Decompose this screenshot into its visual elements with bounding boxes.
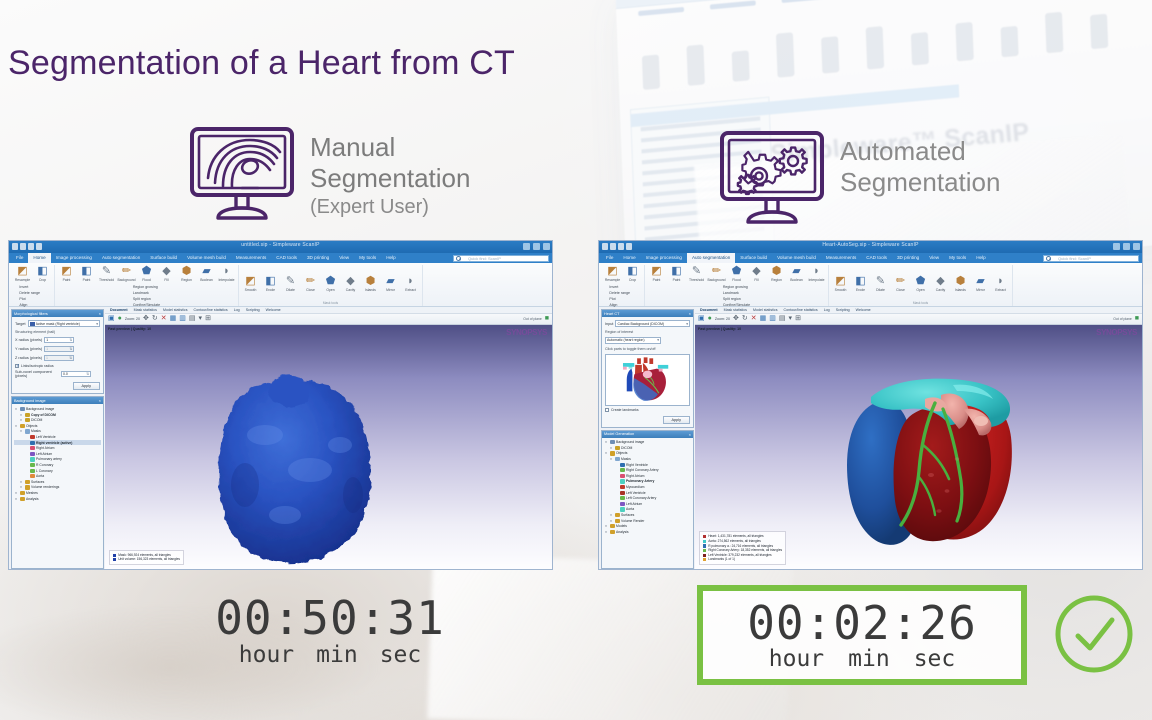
mask-color-icon [30, 463, 35, 467]
left-search-box[interactable]: Quick find: ScanIP [453, 255, 549, 262]
open-icon-glyph: ⬟ [326, 275, 336, 288]
mask-color-icon [30, 435, 35, 439]
ribbon-command[interactable]: Region growing [723, 285, 750, 290]
right-dock: Heart CT × Input Cardiac Background (DIC… [599, 307, 695, 569]
target-combo[interactable]: Active mask (Right ventricle) ▾ [28, 320, 100, 327]
fill-subrange-icon[interactable]: ◆Fill [748, 265, 765, 283]
tree-node-label: DICOM [31, 418, 42, 422]
mask-color-icon [620, 468, 625, 472]
structuring-element-label: Structuring element (ball) [15, 330, 100, 334]
right-title-bar: Heart-AutoSeg.sip - Simpleware ScanIP [599, 241, 1142, 253]
dilate-icon-glyph: ✎ [286, 275, 295, 288]
view-tab-log[interactable]: Log [821, 308, 833, 312]
right-workarea: Heart CT × Input Cardiac Background (DIC… [599, 307, 1142, 569]
tree-node-label: Masks [621, 457, 631, 461]
page-title: Segmentation of a Heart from CT [8, 44, 515, 83]
smooth-icon-glyph: ◩ [245, 275, 255, 288]
erode-icon[interactable]: ◧Erode [262, 275, 279, 293]
interpolate-icon[interactable]: ◗Interpolate [218, 265, 235, 283]
mask-color-icon [25, 485, 30, 489]
ribbon-tab-auto-segmentation[interactable]: Auto segmentation [97, 253, 145, 263]
right-object-tree-panel[interactable]: Model Generation × ▾Background image▾DIC… [601, 430, 694, 570]
ribbon-tab-3d-printing[interactable]: 3D printing [302, 253, 334, 263]
left-quick-access-toolbar[interactable] [12, 243, 42, 250]
resample-icon[interactable]: ◩Resample [14, 265, 31, 283]
erode-icon-glyph: ◧ [265, 275, 275, 288]
pan-icon[interactable]: ✥ [143, 314, 149, 324]
right-search-box[interactable]: Quick find: ScanIP [1043, 255, 1139, 262]
tree-node-label: Myocardium [626, 485, 644, 489]
ribbon-command[interactable]: Split region [723, 297, 750, 302]
close-icon[interactable]: × [689, 432, 691, 437]
left-tree-title-bar: Background image × [12, 397, 103, 404]
threshold-icon[interactable]: ✎Threshold [98, 265, 115, 283]
erode-icon-glyph: ◧ [855, 275, 865, 288]
checkbox-icon [605, 408, 609, 412]
fill-subrange-icon[interactable]: ◆Fill [158, 265, 175, 283]
automated-timer-units: hourminsec [747, 646, 977, 672]
right-ribbon-tabs[interactable]: FileHomeImage processingAuto segmentatio… [599, 253, 1142, 263]
fill-icon-glyph: ⬟ [732, 265, 742, 278]
grid-icon[interactable]: ▦ [760, 314, 767, 324]
ribbon-tab-help[interactable]: Help [381, 253, 400, 263]
ribbon-item-caption: Close [306, 289, 315, 293]
morphological-filters-panel[interactable]: Morphological filters × Target Active ma… [11, 309, 104, 394]
mask-color-icon [615, 519, 620, 523]
tree-node-label: Pulmonary Artery [626, 479, 654, 483]
view-tab-contour-line-statistics[interactable]: Contour/line statistics [781, 308, 821, 312]
left-tree-body[interactable]: ▾Background image▾Copy of DICOM▾DICOM▾Ob… [12, 404, 103, 503]
ribbon-item-caption: Close [896, 289, 905, 293]
legend-item: Unit volume: 156,323 elements, all trian… [113, 557, 180, 562]
ribbon-item-caption: Interpolate [808, 279, 824, 283]
tree-node-label: L Coronary [36, 469, 53, 473]
stepper-arrows-icon[interactable]: ⇅ [69, 347, 72, 351]
camera-icon[interactable]: ▤ [779, 314, 786, 324]
tree-node-label: DICOM [621, 446, 632, 450]
link-isotropic-label: Links/isotropic radius [21, 364, 54, 368]
automated-segmentation-screenshot[interactable]: Heart-AutoSeg.sip - Simpleware ScanIP Fi… [598, 240, 1143, 570]
link-isotropic-checkbox[interactable]: Links/isotropic radius [15, 364, 100, 368]
ribbon-tab-my-tools[interactable]: My tools [354, 253, 381, 263]
view-tab-mask-statistics[interactable]: Mask statistics [131, 308, 160, 312]
chevron-down-icon[interactable]: ▾ [609, 446, 613, 450]
subvoxel-label: Sub-voxel component (pixels) [15, 370, 59, 379]
cavity-fill-icon[interactable]: ◆Cavity [342, 275, 359, 293]
crop-icon[interactable]: ◧Crop [624, 265, 641, 283]
legend-label: Landmarks (1 of 1) [708, 557, 735, 562]
chevron-down-icon[interactable]: ▾ [19, 418, 23, 422]
ribbon-group-items[interactable]: ◩Paint◧Paint✎Threshold✏Background⬟Flood◆… [648, 265, 825, 283]
ribbon-tab-cad-tools[interactable]: CAD tools [861, 253, 892, 263]
ribbon-tab-volume-mesh-build[interactable]: Volume mesh build [182, 253, 231, 263]
right-legend: Heart: 1,431,781 elements, all triangles… [699, 531, 786, 565]
tree-node-label: Background image [26, 407, 54, 411]
tree-node-label: Surfaces [621, 513, 634, 517]
ribbon-item-caption: Cavity [346, 289, 355, 293]
mask-color-icon [620, 463, 625, 467]
left-ribbon[interactable]: ◩Resample◧CropInvertDelete rangePlotAlig… [9, 263, 552, 307]
mask-color-icon [20, 407, 25, 411]
mask-color-icon [620, 502, 625, 506]
tree-node-label: Analysis [26, 497, 39, 501]
apply-button[interactable]: Apply [73, 382, 101, 390]
automated-timer-highlight-box: 00:02:26 hourminsec [697, 585, 1027, 685]
chevron-down-icon[interactable]: ▾ [604, 524, 608, 528]
radius-row[interactable]: Y radius (pixels)1⇅ [15, 346, 100, 353]
ribbon-command[interactable]: Invert [19, 285, 45, 290]
left-title-bar: untitled.sip - Simpleware ScanIP [9, 241, 552, 253]
mirror-icon[interactable]: ▰Mirror [382, 275, 399, 293]
chevron-down-icon[interactable]: ▾ [19, 485, 23, 489]
mask-color-icon [30, 452, 35, 456]
mask-color-icon [30, 474, 35, 478]
ribbon-tab-home[interactable]: Home [28, 253, 50, 263]
tree-node-label: Right ventricle (active) [36, 441, 72, 445]
ribbon-command[interactable]: Region growing [133, 285, 160, 290]
create-landmarks-checkbox[interactable]: Create landmarks [605, 408, 690, 412]
tree-node-label: Right Coronary Artery [626, 468, 659, 472]
right-3d-canvas[interactable]: Fast preview | Quality: 10 SYNOPSYS [695, 325, 1142, 569]
interpolate-icon[interactable]: ◗Interpolate [808, 265, 825, 283]
radius-value: 1 [46, 338, 48, 342]
region-label: Region of interest [605, 330, 690, 334]
ribbon-tab-cad-tools[interactable]: CAD tools [271, 253, 302, 263]
extract-icon[interactable]: ◗Extract [402, 275, 419, 293]
threshold-icon[interactable]: ✎Threshold [688, 265, 705, 283]
chevron-down-icon[interactable]: ▾ [96, 322, 98, 326]
right-ribbon[interactable]: ◩Resample◧CropInvertDelete rangePlotAlig… [599, 263, 1142, 307]
legend-label: Unit volume: 156,323 elements, all trian… [118, 557, 180, 562]
mask-color-icon [30, 441, 35, 445]
right-view-toolbar[interactable]: ▣ ● Zoom: 20 ✥ ↻ ✕ ▦ ▥ ▤ ▾ ⊞ Out of plan… [695, 313, 1142, 325]
left-workarea: Morphological filters × Target Active ma… [9, 307, 552, 569]
radius-row[interactable]: Z radius (pixels)1⇅ [15, 355, 100, 362]
ribbon-tab-measurements[interactable]: Measurements [231, 253, 271, 263]
region-grow-icon[interactable]: ⬢Region [178, 265, 195, 283]
mask-color-icon [620, 485, 625, 489]
dilate-icon[interactable]: ✎Dilate [282, 275, 299, 293]
subvoxel-stepper[interactable]: 0.0⇅ [61, 371, 91, 378]
apply-button[interactable]: Apply [663, 416, 691, 424]
ribbon-tab-image-processing[interactable]: Image processing [51, 253, 97, 263]
layers-icon[interactable]: ▥ [179, 314, 186, 324]
tree-node-label: Left Coronary Artery [626, 496, 656, 500]
left-window-buttons[interactable] [523, 243, 550, 250]
chevron-down-icon[interactable]: ▾ [657, 338, 659, 342]
view-tab-welcome[interactable]: Welcome [853, 308, 874, 312]
view-tab-welcome[interactable]: Welcome [263, 308, 284, 312]
timer-unit-hour: hour [239, 642, 294, 668]
legend-color-swatch [113, 558, 116, 561]
radius-value: 1 [46, 347, 48, 351]
ribbon-tab-surface-build[interactable]: Surface build [735, 253, 772, 263]
left-object-tree-panel[interactable]: Background image × ▾Background image▾Cop… [11, 396, 104, 569]
ribbon-tab-view[interactable]: View [334, 253, 354, 263]
rotate-icon[interactable]: ↻ [742, 314, 748, 324]
ribbon-group-items[interactable]: ◩Paint◧Paint✎Threshold✏Background⬟Flood◆… [58, 265, 235, 283]
ribbon-group-items[interactable]: ◩Resample◧Crop [604, 265, 641, 283]
view-tab-contour-line-statistics[interactable]: Contour/line statistics [191, 308, 231, 312]
grid-icon[interactable]: ▦ [170, 314, 177, 324]
right-status-bar: Image extent: 512 x 512 x 293 voxelsSpac… [599, 569, 1142, 570]
erode-icon[interactable]: ◧Erode [852, 275, 869, 293]
mirror-icon[interactable]: ▰Mirror [972, 275, 989, 293]
view-tab-log[interactable]: Log [231, 308, 243, 312]
search-icon [456, 256, 466, 261]
islands-icon-glyph: ⬢ [956, 275, 966, 288]
open-icon[interactable]: ⬟Open [912, 275, 929, 293]
background-icon[interactable]: ✏Background [118, 265, 135, 283]
crop-icon[interactable]: ◧Crop [34, 265, 51, 283]
ribbon-command[interactable]: Plot [609, 297, 635, 302]
region-combo[interactable]: Automatic (heart region) ▾ [605, 337, 661, 344]
chevron-down-icon[interactable]: ▾ [199, 314, 203, 324]
chevron-down-icon[interactable]: ▾ [789, 314, 793, 324]
close-icon[interactable]: ✏Close [892, 275, 909, 293]
islands-icon[interactable]: ⬢Islands [952, 275, 969, 293]
left-3d-canvas[interactable]: Fast preview | Quality: 10 SYNOPSYS [105, 325, 552, 569]
left-status-bar: SplitX, TrialsRT (2of7)Image extent: 512… [9, 569, 552, 570]
close-icon[interactable]: × [99, 311, 101, 316]
ribbon-item-caption: Boolean [790, 279, 802, 283]
delete-icon[interactable]: ✕ [751, 314, 757, 324]
ribbon-tab-home[interactable]: Home [618, 253, 640, 263]
ribbon-tab-surface-build[interactable]: Surface build [145, 253, 182, 263]
radius-stepper[interactable]: 1⇅ [44, 355, 74, 362]
ribbon-item-caption: Open [916, 289, 924, 293]
view-tab-document[interactable]: Document [697, 308, 721, 312]
ribbon-item-caption: Threshold [99, 279, 114, 283]
mask-color-icon [620, 507, 625, 511]
ribbon-tab-file[interactable]: File [601, 253, 618, 263]
tree-node[interactable]: ▾Analysis [604, 529, 691, 535]
mask-color-icon [20, 491, 25, 495]
ribbon-tab-my-tools[interactable]: My tools [944, 253, 971, 263]
manual-label-sub: (Expert User) [310, 194, 470, 220]
mask-color-icon [620, 491, 625, 495]
ribbon-tab-measurements[interactable]: Measurements [821, 253, 861, 263]
background-icon-glyph: ✏ [712, 265, 721, 278]
radius-row[interactable]: X radius (pixels)1⇅ [15, 337, 100, 344]
close-icon[interactable]: ✏Close [302, 275, 319, 293]
chevron-down-icon[interactable]: ▾ [686, 322, 688, 326]
region-grow-icon[interactable]: ⬢Region [768, 265, 785, 283]
check-circle-icon [1052, 592, 1136, 681]
mask-color-icon [25, 418, 30, 422]
manual-timer: 00:50:31 hourminsec [180, 592, 480, 668]
right-window-buttons[interactable] [1113, 243, 1140, 250]
chevron-down-icon[interactable]: ▾ [19, 413, 23, 417]
ribbon-tab-3d-printing[interactable]: 3D printing [892, 253, 924, 263]
region-grow-icon-glyph: ⬢ [772, 265, 782, 278]
left-view-toolbar[interactable]: ▣ ● Zoom: 20 ✥ ↻ ✕ ▦ ▥ ▤ ▾ ⊞ Out of plan… [105, 313, 552, 325]
view-tab-scripting[interactable]: Scripting [243, 308, 263, 312]
ribbon-command[interactable]: Landmark [723, 291, 750, 296]
tree-node[interactable]: ▾Analysis [14, 496, 101, 502]
left-legend: Mask: 966,924 elements, all trianglesUni… [109, 550, 184, 565]
fill-icon[interactable]: ⬟Flood [138, 265, 155, 283]
chevron-down-icon[interactable]: ▾ [14, 407, 18, 411]
left-ribbon-tabs[interactable]: FileHomeImage processingAuto segmentatio… [9, 253, 552, 263]
radius-label: Y radius (pixels) [15, 347, 42, 351]
ribbon-group-items[interactable]: ◩Smooth◧Erode✎Dilate✏Close⬟Open◆Cavity⬢I… [832, 265, 1009, 293]
ribbon-command[interactable]: Plot [19, 297, 45, 302]
timer-unit-hour: hour [769, 646, 824, 672]
tree-node-label: Models [616, 524, 627, 528]
resample-icon[interactable]: ◩Resample [604, 265, 621, 283]
target-label: Target [15, 322, 26, 326]
ribbon-item-caption: Paint [63, 279, 71, 283]
view-tab-model-statistics[interactable]: Model statistics [750, 308, 781, 312]
automated-timer: 00:02:26 hourminsec [747, 598, 977, 672]
camera-icon[interactable]: ▤ [189, 314, 196, 324]
fill-subrange-icon-glyph: ◆ [752, 265, 760, 278]
tree-node-label: Volume Render [621, 519, 644, 523]
view-tab-mask-statistics[interactable]: Mask statistics [721, 308, 750, 312]
input-label: Input [605, 322, 613, 326]
ribbon-command[interactable]: Split region [133, 297, 160, 302]
ribbon-item-caption: Open [326, 289, 334, 293]
tree-node-label: Objects [26, 424, 38, 428]
ribbon-group-crop: ◩Resample◧CropInvertDelete rangePlotAlig… [601, 265, 645, 306]
islands-icon[interactable]: ⬢Islands [362, 275, 379, 293]
ribbon-small-commands[interactable]: Region growingLandmarkSplit regionConfin… [131, 283, 162, 308]
smooth-icon[interactable]: ◩Smooth [832, 275, 849, 293]
mask-color-icon [615, 513, 620, 517]
boolean-icon[interactable]: ▰Boolean [788, 265, 805, 283]
rotate-icon[interactable]: ↻ [152, 314, 158, 324]
ribbon-item-caption: Smooth [245, 289, 257, 293]
tree-node-label: Surfaces [31, 480, 44, 484]
legend-color-swatch [703, 544, 706, 547]
layers-icon[interactable]: ▥ [769, 314, 776, 324]
close-icon[interactable]: × [689, 311, 691, 316]
save-icon[interactable]: ▣ [108, 314, 115, 324]
chevron-down-icon[interactable]: ▾ [604, 440, 608, 444]
chevron-down-icon[interactable]: ▾ [604, 530, 608, 534]
close-icon[interactable]: × [99, 398, 101, 403]
radius-stepper[interactable]: 1⇅ [44, 346, 74, 353]
extract-icon[interactable]: ◗Extract [992, 275, 1009, 293]
ribbon-small-commands[interactable]: Region growingLandmarkSplit regionConfin… [721, 283, 752, 308]
crosshair-icon[interactable]: ⊞ [205, 314, 211, 324]
chevron-down-icon[interactable]: ▾ [14, 424, 18, 428]
tree-node-label: Background image [616, 440, 644, 444]
fill-icon[interactable]: ⬟Flood [728, 265, 745, 283]
stepper-arrows-icon[interactable]: ⇅ [69, 338, 72, 342]
ribbon-item-caption: Interpolate [218, 279, 234, 283]
left-dock: Morphological filters × Target Active ma… [9, 307, 105, 569]
tree-node-label: Copy of DICOM [31, 413, 56, 417]
radius-rows[interactable]: X radius (pixels)1⇅Y radius (pixels)1⇅Z … [15, 337, 100, 362]
ribbon-group-items[interactable]: ◩Resample◧Crop [14, 265, 51, 283]
paint-threshold-icon[interactable]: ◧Paint [668, 265, 685, 283]
chevron-down-icon[interactable]: ▾ [609, 519, 613, 523]
mask-color-icon [610, 530, 615, 534]
cavity-fill-icon-glyph: ◆ [936, 275, 944, 288]
cavity-fill-icon[interactable]: ◆Cavity [932, 275, 949, 293]
manual-segmentation-labels: Manual Segmentation (Expert User) [310, 126, 470, 220]
dilate-icon[interactable]: ✎Dilate [872, 275, 889, 293]
ribbon-tab-image-processing[interactable]: Image processing [641, 253, 687, 263]
paint-icon[interactable]: ◩Paint [58, 265, 75, 283]
heart-anatomy-diagram[interactable] [605, 354, 690, 406]
chevron-down-icon[interactable]: ▾ [19, 480, 23, 484]
smooth-icon[interactable]: ◩Smooth [242, 275, 259, 293]
chevron-down-icon[interactable]: ▾ [609, 513, 613, 517]
timer-unit-min: min [848, 646, 890, 672]
islands-icon-glyph: ⬢ [366, 275, 376, 288]
background-icon[interactable]: ✏Background [708, 265, 725, 283]
ribbon-group-crop: ◩Resample◧CropInvertDelete rangePlotAlig… [11, 265, 55, 306]
crop-icon-glyph: ◧ [627, 265, 637, 278]
resample-icon-glyph: ◩ [607, 265, 617, 278]
checkbox-icon [15, 364, 19, 368]
ribbon-tab-file[interactable]: File [11, 253, 28, 263]
chevron-down-icon[interactable]: ▾ [19, 429, 23, 433]
chevron-down-icon[interactable]: ▾ [14, 497, 18, 501]
legend-color-swatch [703, 535, 706, 538]
roi-panel-title: Heart CT [604, 312, 619, 316]
chevron-down-icon[interactable]: ▾ [604, 451, 608, 455]
ribbon-tab-volume-mesh-build[interactable]: Volume mesh build [772, 253, 821, 263]
radius-stepper[interactable]: 1⇅ [44, 337, 74, 344]
chevron-down-icon[interactable]: ▾ [14, 491, 18, 495]
ribbon-tab-auto-segmentation[interactable]: Auto segmentation [687, 253, 735, 263]
pan-icon[interactable]: ✥ [733, 314, 739, 324]
fill-subrange-icon-glyph: ◆ [162, 265, 170, 278]
right-zoom-value: Zoom: 20 [715, 317, 730, 321]
crosshair-icon[interactable]: ⊞ [795, 314, 801, 324]
save-icon[interactable]: ▣ [698, 314, 705, 324]
ribbon-group-items[interactable]: ◩Smooth◧Erode✎Dilate✏Close⬟Open◆Cavity⬢I… [242, 265, 419, 293]
open-icon-glyph: ⬟ [916, 275, 926, 288]
record-icon[interactable]: ● [708, 314, 712, 324]
view-tab-document[interactable]: Document [107, 308, 131, 312]
morph-panel-title: Morphological filters [14, 312, 48, 316]
ribbon-command[interactable]: Landmark [133, 291, 160, 296]
manual-segmentation-screenshot[interactable]: untitled.sip - Simpleware ScanIP FileHom… [8, 240, 553, 570]
right-quick-access-toolbar[interactable] [602, 243, 632, 250]
ribbon-tab-view[interactable]: View [924, 253, 944, 263]
right-viewport[interactable]: DocumentMask statisticsModel statisticsC… [695, 307, 1142, 569]
ribbon-command[interactable]: Invert [609, 285, 635, 290]
delete-icon[interactable]: ✕ [161, 314, 167, 324]
open-icon[interactable]: ⬟Open [322, 275, 339, 293]
boolean-icon[interactable]: ▰Boolean [198, 265, 215, 283]
ribbon-command[interactable]: Delete range [609, 291, 635, 296]
view-tab-scripting[interactable]: Scripting [833, 308, 853, 312]
automated-segmentation-header: Automated Segmentation [718, 130, 1000, 226]
stepper-arrows-icon[interactable]: ⇅ [69, 356, 72, 360]
ribbon-tab-help[interactable]: Help [971, 253, 990, 263]
paint-threshold-icon[interactable]: ◧Paint [78, 265, 95, 283]
paint-icon-glyph: ◩ [61, 265, 71, 278]
right-tree-body[interactable]: ▾Background image▾DICOM▾Objects▾MasksRig… [602, 438, 693, 537]
automated-label-line1: Automated [840, 136, 1000, 167]
record-icon[interactable]: ● [118, 314, 122, 324]
ribbon-command[interactable]: Delete range [19, 291, 45, 296]
paint-icon[interactable]: ◩Paint [648, 265, 665, 283]
left-viewport[interactable]: DocumentMask statisticsModel statisticsC… [105, 307, 552, 569]
view-tab-model-statistics[interactable]: Model statistics [160, 308, 191, 312]
input-combo[interactable]: Cardiac Background (DICOM) ▾ [615, 320, 690, 327]
auto-segmentation-panel[interactable]: Heart CT × Input Cardiac Background (DIC… [601, 309, 694, 428]
threshold-icon-glyph: ✎ [102, 265, 111, 278]
legend-color-swatch [113, 554, 116, 557]
chevron-down-icon[interactable]: ▾ [609, 457, 613, 461]
